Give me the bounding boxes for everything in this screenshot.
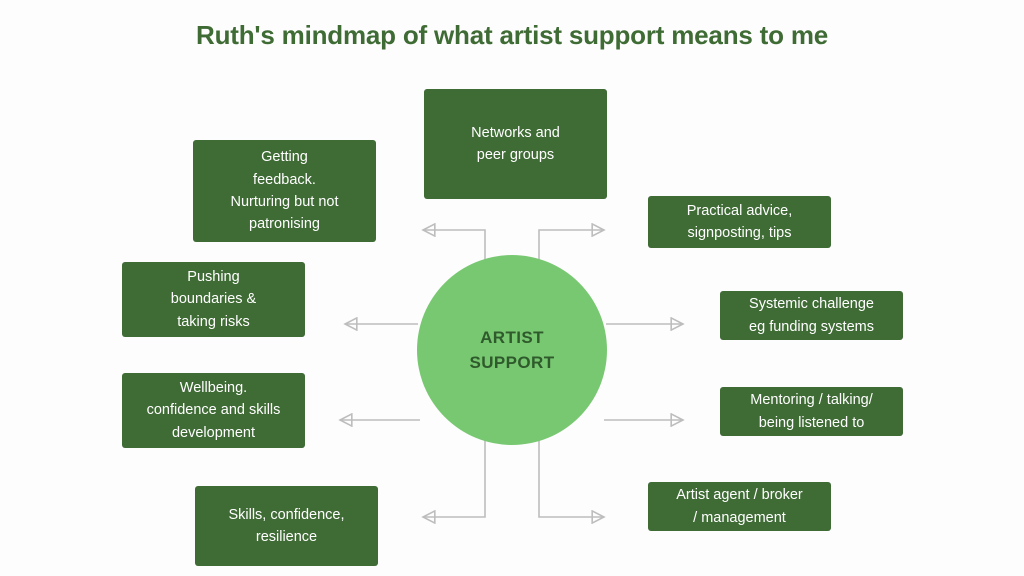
- node-label: Mentoring / talking/ being listened to: [750, 389, 873, 434]
- node-mentoring-talking[interactable]: Mentoring / talking/ being listened to: [720, 387, 903, 436]
- connector-elbow-bottom-left: [423, 436, 485, 517]
- node-systemic-challenge[interactable]: Systemic challenge eg funding systems: [720, 291, 903, 340]
- center-node-artist-support[interactable]: ARTIST SUPPORT: [417, 255, 607, 445]
- node-getting-feedback[interactable]: Getting feedback. Nurturing but not patr…: [193, 140, 376, 242]
- connector-elbow-top-left: [423, 230, 485, 265]
- node-label: Wellbeing. confidence and skills develop…: [147, 377, 281, 444]
- node-label: Systemic challenge eg funding systems: [749, 293, 874, 338]
- node-artist-agent-broker[interactable]: Artist agent / broker / management: [648, 482, 831, 531]
- node-pushing-boundaries[interactable]: Pushing boundaries & taking risks: [122, 262, 305, 337]
- mindmap-canvas: Ruth's mindmap of what artist support me…: [0, 0, 1024, 576]
- connector-elbow-bottom-right: [539, 436, 604, 517]
- node-label: Practical advice, signposting, tips: [687, 200, 793, 245]
- node-wellbeing-confidence-skills[interactable]: Wellbeing. confidence and skills develop…: [122, 373, 305, 448]
- center-node-label: ARTIST SUPPORT: [470, 325, 555, 376]
- node-skills-confidence-resilience[interactable]: Skills, confidence, resilience: [195, 486, 378, 566]
- node-label: Networks and peer groups: [471, 122, 560, 167]
- node-label: Pushing boundaries & taking risks: [171, 266, 256, 333]
- node-label: Getting feedback. Nurturing but not patr…: [230, 146, 338, 236]
- node-practical-advice[interactable]: Practical advice, signposting, tips: [648, 196, 831, 248]
- connector-elbow-top-right: [539, 230, 604, 265]
- node-networks-and-peer-groups[interactable]: Networks and peer groups: [424, 89, 607, 199]
- node-label: Skills, confidence, resilience: [228, 504, 344, 549]
- node-label: Artist agent / broker / management: [676, 484, 803, 529]
